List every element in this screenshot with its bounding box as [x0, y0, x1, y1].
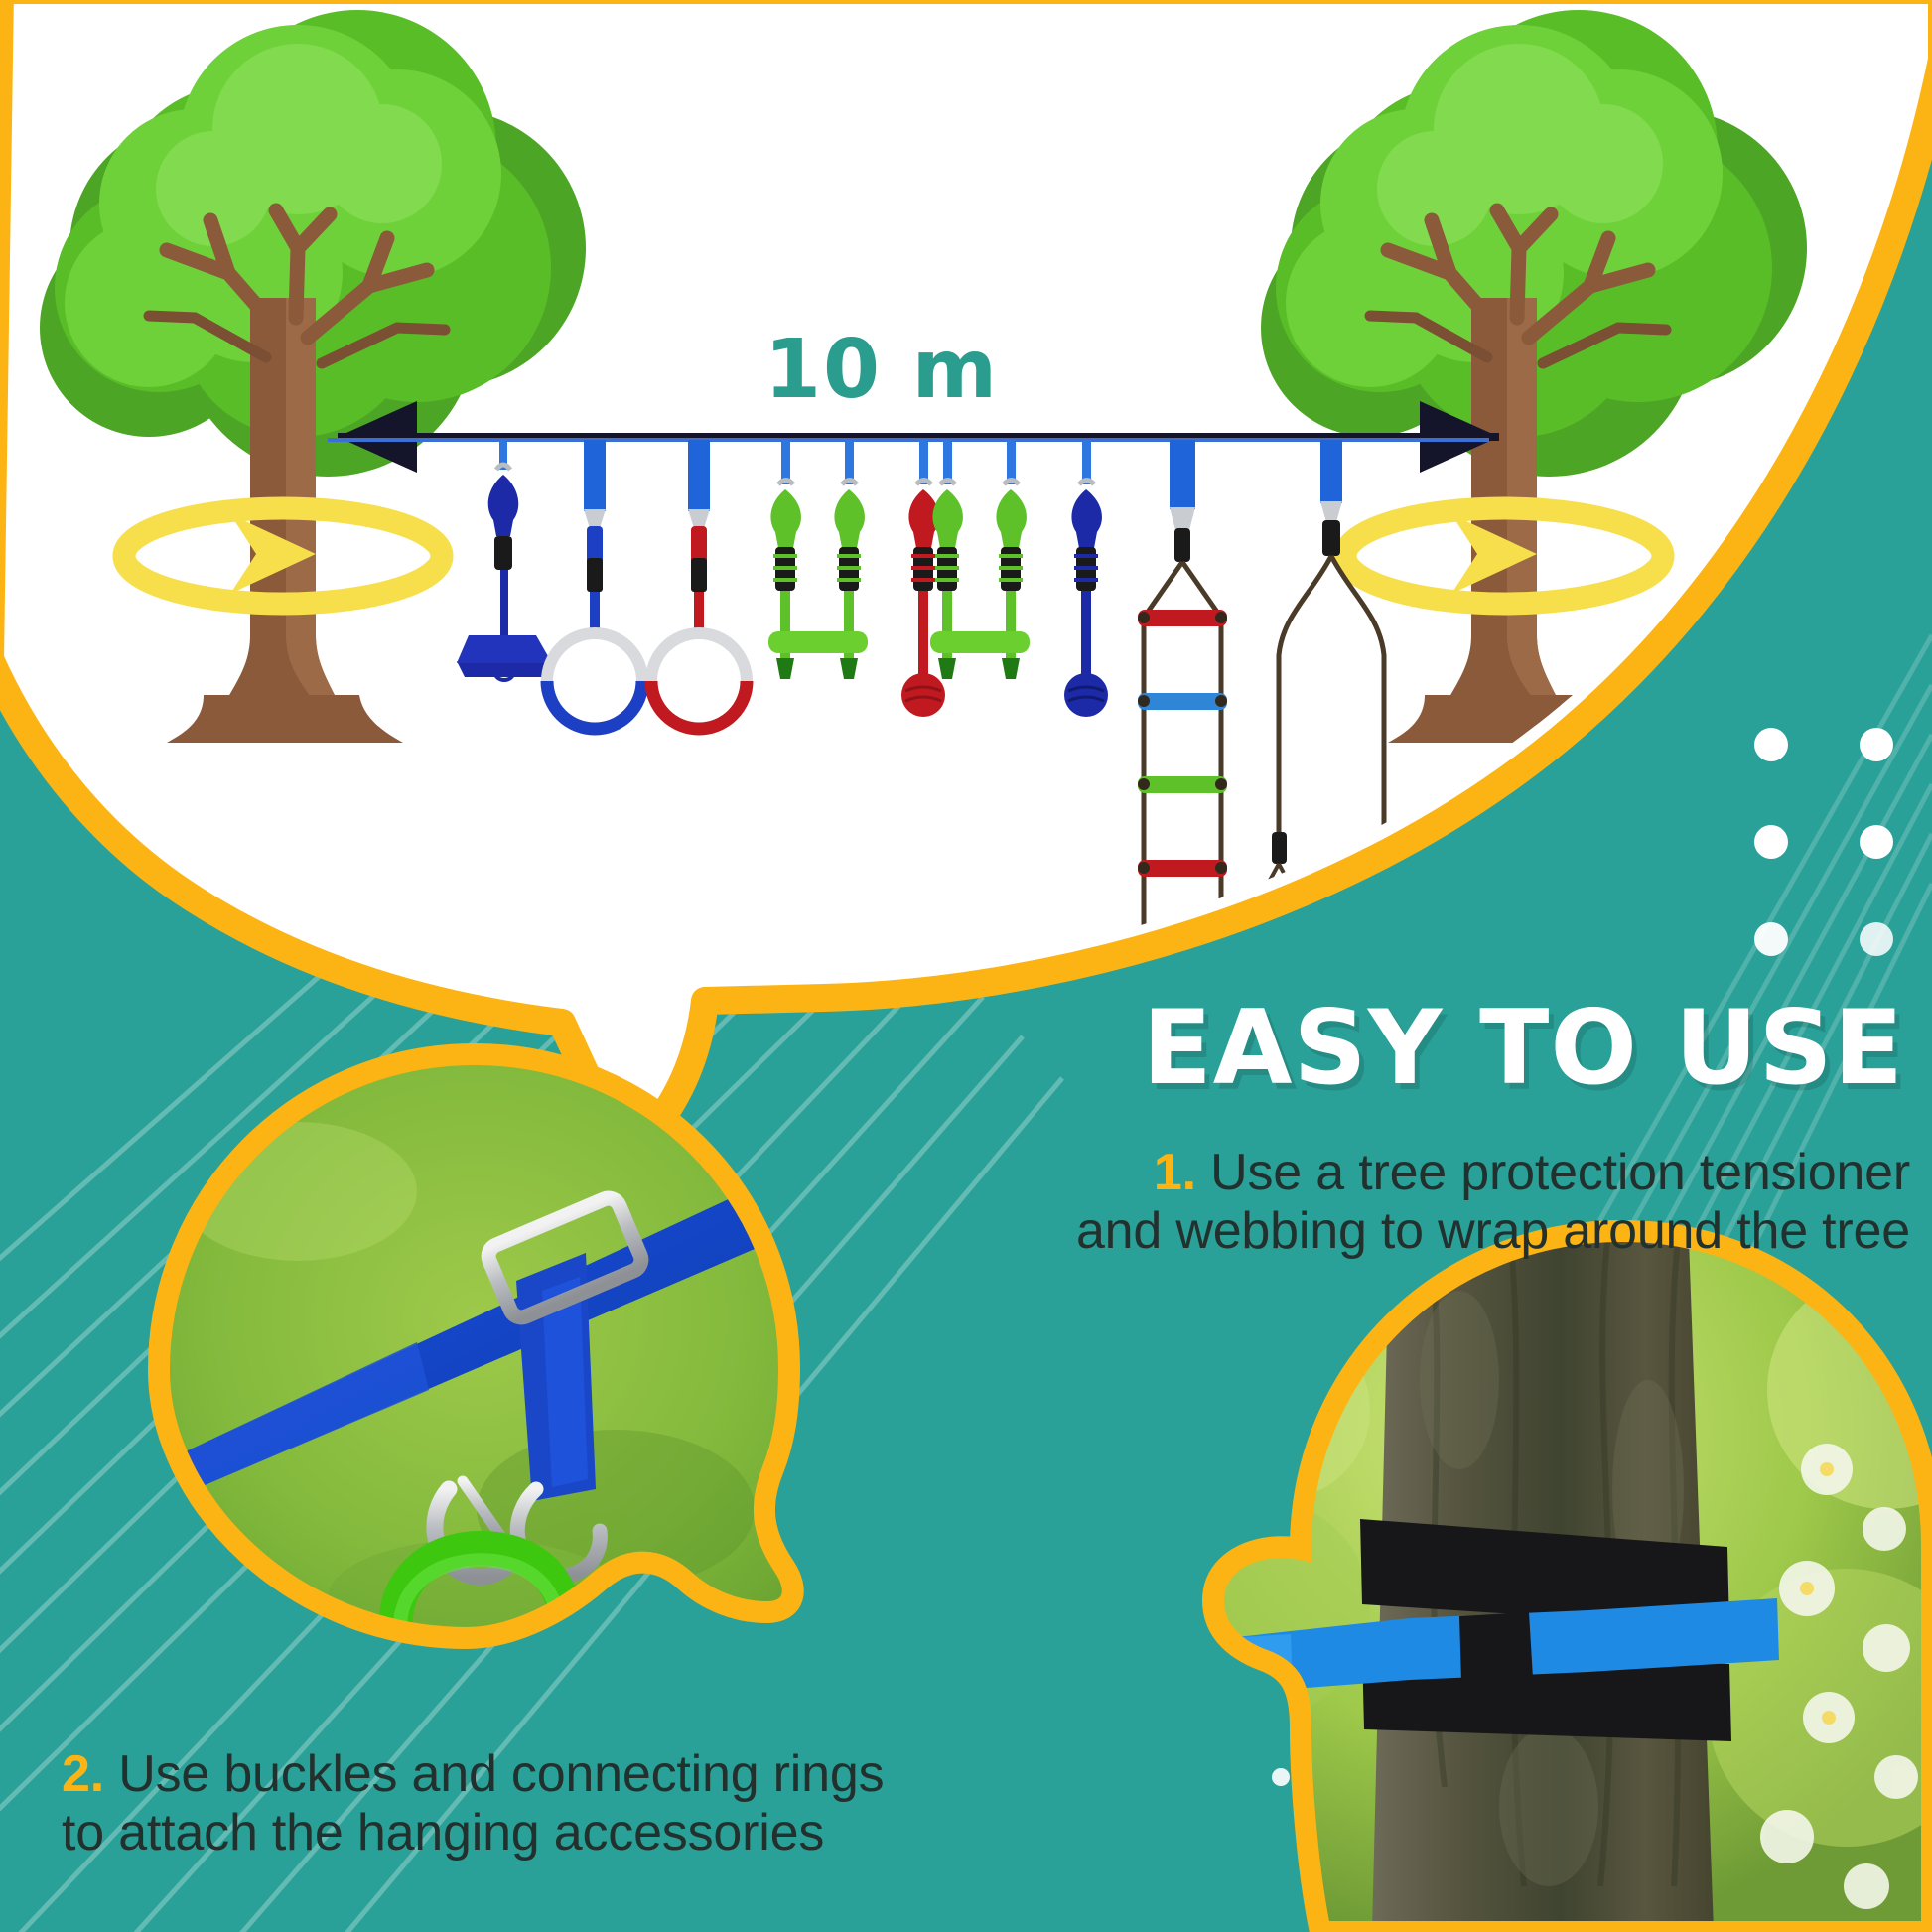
dot-accent-bottom-right — [1272, 1768, 1290, 1786]
infographic-canvas: 10 m EASY TO USE 1. Use a tree protectio… — [0, 0, 1932, 1932]
step-2-number: 2. — [62, 1745, 104, 1803]
step-2-text: 2. Use buckles and connecting rings to a… — [62, 1745, 1154, 1863]
step-1-line-2: and webbing to wrap around the tree — [1076, 1202, 1910, 1260]
step-1-number: 1. — [1154, 1144, 1196, 1201]
step-1-text: 1. Use a tree protection tensioner and w… — [709, 1144, 1910, 1261]
step-2-line-1: Use buckles and connecting rings — [118, 1745, 884, 1803]
measurement-label: 10 m — [764, 323, 999, 417]
page-title: EASY TO USE — [733, 998, 1904, 1100]
step-1-line-1: Use a tree protection tensioner — [1210, 1144, 1910, 1201]
step-2-line-2: to attach the hanging accessories — [62, 1804, 824, 1862]
infographic-artwork — [0, 0, 1932, 1932]
